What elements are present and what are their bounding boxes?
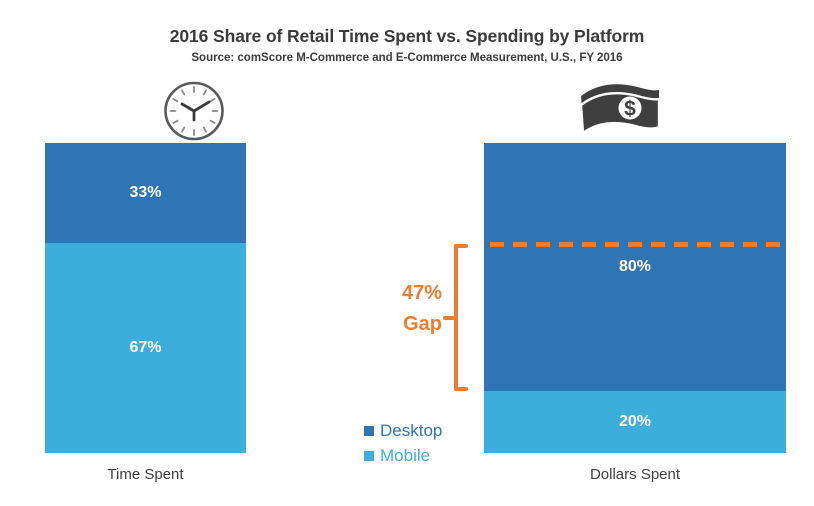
bar-label-time-mobile: 67%: [129, 339, 161, 357]
bar-label-dollars-desktop: 80%: [619, 258, 651, 276]
legend-label-mobile: Mobile: [380, 446, 430, 466]
gap-word-label: Gap: [380, 309, 442, 340]
legend-item-desktop[interactable]: Desktop: [364, 418, 484, 443]
svg-text:$: $: [624, 98, 636, 121]
clock-icon: [161, 80, 227, 142]
gap-reference-dashed-line: [490, 242, 786, 247]
bar-segment-time-mobile[interactable]: 67%: [45, 243, 246, 453]
category-label-time-spent: Time Spent: [45, 466, 246, 483]
bar-label-time-desktop: 33%: [129, 184, 161, 202]
gap-annotation-text: 47% Gap: [380, 278, 442, 340]
bar-segment-dollars-mobile[interactable]: 20%: [484, 391, 786, 453]
bar-time-spent[interactable]: 33% 67%: [45, 143, 246, 453]
legend-label-desktop: Desktop: [380, 421, 442, 441]
legend-item-mobile[interactable]: Mobile: [364, 443, 484, 468]
legend-swatch-desktop: [364, 426, 374, 436]
gap-annotation: 47% Gap: [380, 238, 490, 398]
gap-value-label: 47%: [380, 278, 442, 309]
bar-segment-time-desktop[interactable]: 33%: [45, 143, 246, 243]
bar-label-dollars-mobile: 20%: [619, 413, 651, 431]
money-icon: $: [575, 78, 663, 142]
legend: Desktop Mobile: [364, 418, 484, 468]
chart-title: 2016 Share of Retail Time Spent vs. Spen…: [0, 26, 814, 47]
chart-subtitle-source: Source: comScore M-Commerce and E-Commer…: [0, 52, 814, 64]
bar-dollars-spent[interactable]: 80% 20%: [484, 143, 786, 453]
bar-segment-dollars-desktop[interactable]: 80%: [484, 143, 786, 391]
category-label-dollars-spent: Dollars Spent: [484, 466, 786, 483]
chart-canvas: 2016 Share of Retail Time Spent vs. Spen…: [0, 0, 814, 506]
gap-bracket-icon: [454, 244, 476, 391]
legend-swatch-mobile: [364, 451, 374, 461]
